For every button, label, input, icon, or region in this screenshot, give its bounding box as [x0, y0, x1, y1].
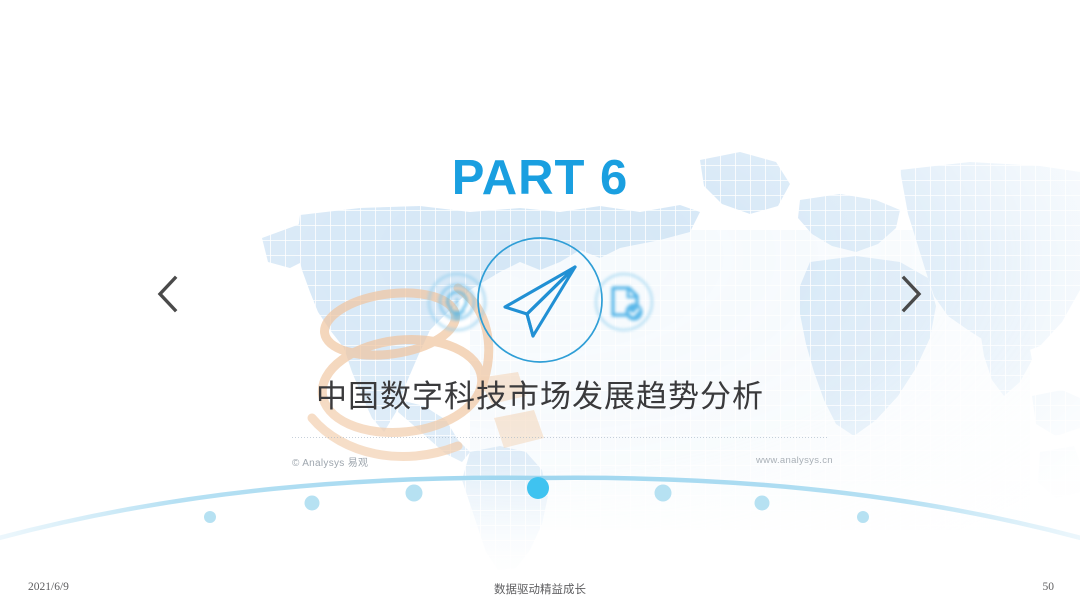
- slide-footer: 2021/6/9 数据驱动精益成长 50: [0, 570, 1080, 608]
- next-slide-arrow[interactable]: [888, 272, 934, 318]
- section-icon-cluster: [410, 235, 670, 370]
- document-check-icon: [593, 271, 655, 333]
- part-number-heading: PART 6: [0, 150, 1080, 206]
- previous-slide-arrow[interactable]: [145, 272, 191, 318]
- chevron-right-icon: [896, 272, 926, 316]
- website-url: www.analysys.cn: [756, 455, 833, 466]
- page-number: 50: [1043, 581, 1055, 593]
- footer-tagline: 数据驱动精益成长: [0, 581, 1080, 597]
- copyright-credit: © Analysys 易观: [292, 454, 368, 469]
- page-title: 中国数字科技市场发展趋势分析: [0, 371, 1080, 416]
- chevron-left-icon: [153, 272, 183, 316]
- slide-canvas: PART 6: [0, 0, 1080, 608]
- paper-plane-icon: [475, 235, 605, 365]
- divider: [292, 437, 828, 438]
